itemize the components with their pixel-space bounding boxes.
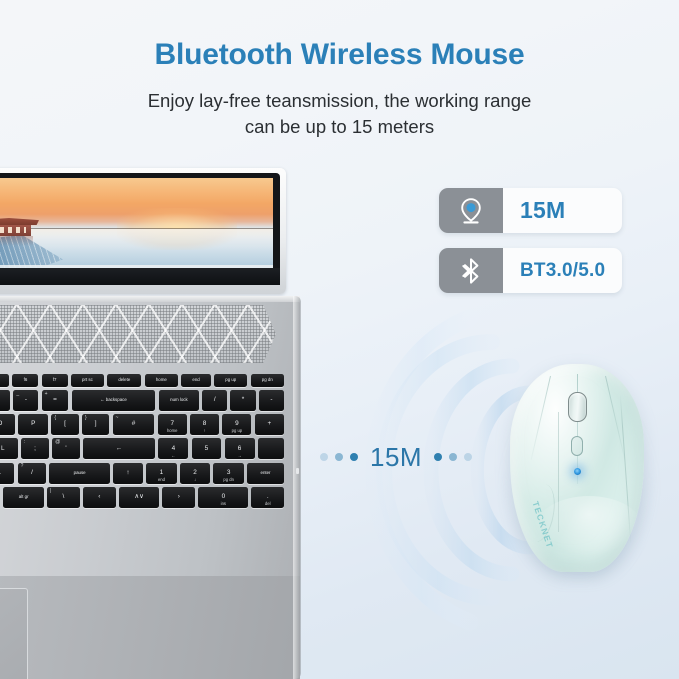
key-numpad-plus[interactable]: + (255, 414, 284, 435)
key[interactable]: 5 (192, 438, 222, 459)
mouse-body: TECKNET (510, 364, 644, 572)
laptop-side-edge (293, 296, 301, 679)
laptop-trackpad[interactable] (0, 588, 28, 679)
key[interactable]: 8↑ (190, 414, 219, 435)
laptop-illustration: f4 f5 f6 f7 prt sc delete home end pg up… (0, 168, 306, 679)
signal-dot (464, 453, 472, 461)
keyboard-row-top: I O P {[ }] ~# 7home 8↑ 9pg up + (0, 414, 284, 435)
location-pin-icon (439, 188, 503, 233)
key[interactable]: @' (52, 438, 80, 459)
scroll-wheel[interactable] (568, 392, 587, 422)
subtitle-line-1: Enjoy lay-free teansmission, the working… (0, 88, 679, 114)
key-page-down[interactable]: pg dn (251, 374, 284, 387)
key[interactable]: - (259, 390, 284, 411)
laptop-palm-rest (0, 576, 300, 679)
hut-windows (0, 227, 26, 233)
key[interactable]: _- (13, 390, 38, 411)
key[interactable]: f5 (0, 374, 9, 387)
location-pin-glyph (458, 196, 484, 226)
key[interactable]: / (202, 390, 227, 411)
key[interactable]: P (18, 414, 48, 435)
laptop-screen-lid (0, 168, 286, 294)
badge-bluetooth: BT3.0/5.0 (439, 248, 622, 293)
signal-dot (449, 453, 457, 461)
keyboard-row-number: (9 )0 _- += ← backspace num lock / * - (0, 390, 284, 411)
key[interactable]: )0 (0, 390, 10, 411)
key-numpad-plus-lower[interactable] (258, 438, 284, 459)
key[interactable]: 7home (158, 414, 187, 435)
key[interactable]: {[ (51, 414, 78, 435)
distance-label: 15M (370, 442, 422, 473)
key[interactable]: 6→ (225, 438, 255, 459)
key-page-up[interactable]: pg up (214, 374, 247, 387)
key-enter-numpad[interactable]: enter (247, 463, 284, 484)
product-marketing-image: Bluetooth Wireless Mouse Enjoy lay-free … (0, 0, 679, 679)
key[interactable]: >. (0, 463, 14, 484)
subtitle-line-2: can be up to 15 meters (0, 114, 679, 140)
keyboard-row-function: f4 f5 f6 f7 prt sc delete home end pg up… (0, 374, 284, 387)
laptop-keyboard: f4 f5 f6 f7 prt sc delete home end pg up… (0, 374, 284, 564)
bluetooth-glyph (460, 256, 482, 286)
key[interactable]: ~# (113, 414, 155, 435)
key[interactable]: |\ (47, 487, 80, 508)
key[interactable]: 3pg dn (213, 463, 243, 484)
key-end[interactable]: end (181, 374, 211, 387)
feature-badges: 15M BT3.0/5.0 (439, 188, 622, 293)
laptop-port (296, 468, 299, 474)
hut-roof (0, 218, 39, 225)
laptop-wallpaper (0, 178, 273, 273)
bluetooth-icon (439, 248, 503, 293)
key[interactable]: 1end (146, 463, 176, 484)
page-subtitle: Enjoy lay-free teansmission, the working… (0, 88, 679, 141)
signal-dot (335, 453, 343, 461)
key[interactable]: .del (251, 487, 284, 508)
key-print-screen[interactable]: prt sc (71, 374, 104, 387)
key[interactable]: O (0, 414, 15, 435)
key-arrow-left[interactable]: ‹ (83, 487, 116, 508)
badge-bluetooth-label: BT3.0/5.0 (503, 248, 622, 293)
key[interactable]: :; (21, 438, 49, 459)
wireless-mouse-product: TECKNET (498, 356, 656, 581)
key-arrow-updown[interactable]: ∧∨ (119, 487, 159, 508)
keyboard-row-modifier: alt gr |\ ‹ ∧∨ › 0ins .del (0, 487, 284, 508)
led-indicator-icon (574, 468, 581, 475)
key[interactable]: += (42, 390, 69, 411)
mouse-bottom-highlight (536, 496, 642, 558)
key[interactable]: f6 (12, 374, 38, 387)
key-arrow-up[interactable]: ↑ (113, 463, 143, 484)
page-title: Bluetooth Wireless Mouse (0, 38, 679, 71)
signal-dot (434, 453, 442, 461)
key[interactable]: f7 (42, 374, 68, 387)
keyboard-row-bottom: <, >. ?/ pause ↑ 1end 2↓ 3pg dn enter (0, 463, 284, 484)
dpi-button[interactable] (571, 436, 583, 456)
key[interactable]: }] (82, 414, 109, 435)
key-pause[interactable]: pause (49, 463, 109, 484)
key[interactable]: 4← (158, 438, 188, 459)
laptop-base: f4 f5 f6 f7 prt sc delete home end pg up… (0, 296, 300, 679)
key-enter[interactable]: ← (83, 438, 155, 459)
key-arrow-right[interactable]: › (162, 487, 195, 508)
key-home[interactable]: home (145, 374, 178, 387)
key-delete[interactable]: delete (107, 374, 141, 387)
key[interactable]: * (230, 390, 255, 411)
laptop-base-top-edge (0, 296, 300, 302)
key[interactable]: 9pg up (222, 414, 251, 435)
key-backspace[interactable]: ← backspace (72, 390, 156, 411)
key-alt-gr[interactable]: alt gr (3, 487, 44, 508)
badge-range: 15M (439, 188, 622, 233)
key-num-lock[interactable]: num lock (159, 390, 200, 411)
laptop-screen-chin (0, 268, 280, 285)
keyboard-row-home: K L :; @' ← 4← 5 6→ (0, 438, 284, 459)
speaker-grille-pattern (0, 305, 276, 363)
signal-dot (350, 453, 358, 461)
hut-reflection (0, 236, 33, 246)
header: Bluetooth Wireless Mouse Enjoy lay-free … (0, 0, 679, 141)
key[interactable]: L (0, 438, 18, 459)
key[interactable]: 0ins (198, 487, 248, 508)
signal-dot (320, 453, 328, 461)
key[interactable]: ?/ (18, 463, 47, 484)
key[interactable]: 2↓ (180, 463, 210, 484)
badge-range-label: 15M (503, 188, 582, 233)
